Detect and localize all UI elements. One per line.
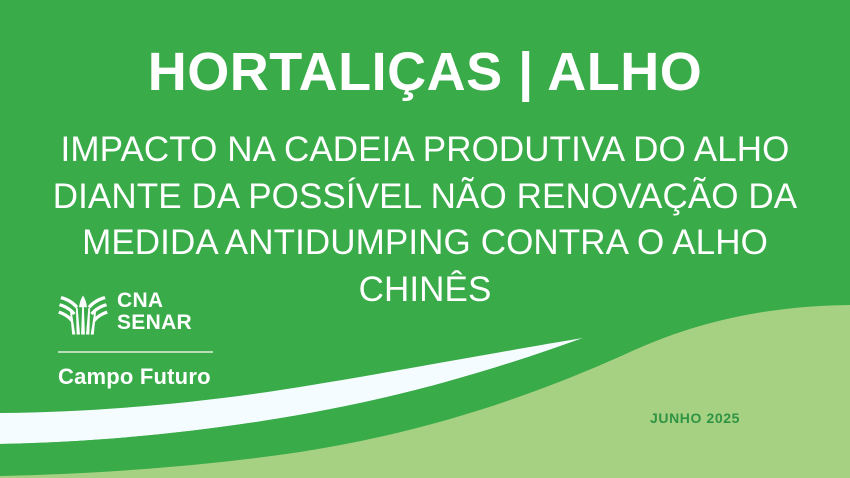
logo-divider <box>58 351 213 353</box>
subtitle: IMPACTO NA CADEIA PRODUTIVA DO ALHO DIAN… <box>0 101 850 315</box>
logo-row: CNA SENAR <box>58 286 243 338</box>
cna-senar-logo: CNA SENAR Campo Futuro <box>58 286 243 390</box>
subtitle-line-1: IMPACTO NA CADEIA PRODUTIVA DO ALHO <box>0 127 850 174</box>
logo-wordmark-line-1: CNA <box>117 290 192 312</box>
title-block: HORTALIÇAS | ALHO IMPACTO NA CADEIA PROD… <box>0 0 850 314</box>
presentation-title-slide: HORTALIÇAS | ALHO IMPACTO NA CADEIA PROD… <box>0 0 850 478</box>
logo-tagline: Campo Futuro <box>58 364 243 390</box>
subtitle-line-2: DIANTE DA POSSÍVEL NÃO RENOVAÇÃO DA <box>0 174 850 221</box>
logo-wordmark: CNA SENAR <box>117 290 192 334</box>
subtitle-line-3: MEDIDA ANTIDUMPING CONTRA O ALHO <box>0 220 850 267</box>
page-title: HORTALIÇAS | ALHO <box>0 0 850 101</box>
wheat-mark-icon <box>58 289 108 335</box>
date-label: JUNHO 2025 <box>600 410 790 426</box>
logo-wordmark-line-2: SENAR <box>117 312 192 334</box>
